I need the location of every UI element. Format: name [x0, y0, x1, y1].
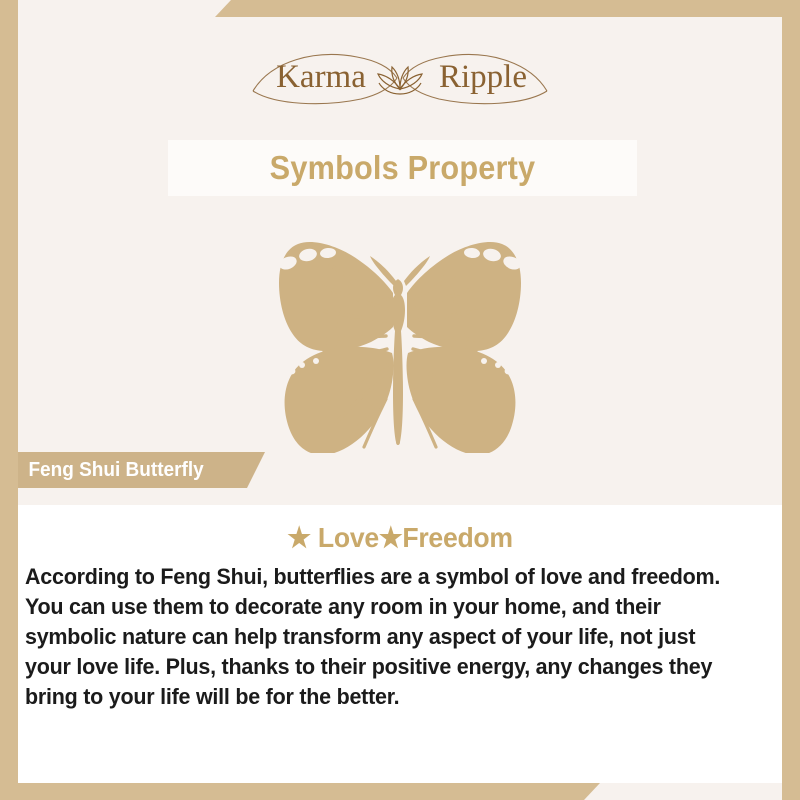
brand-word-right: Ripple	[439, 59, 527, 95]
lotus-icon	[378, 67, 422, 94]
karma-ripple-logo-icon: Karma Ripple	[245, 47, 555, 109]
page-title: Symbols Property	[184, 140, 620, 196]
title-band: Symbols Property	[168, 140, 637, 196]
page-root: Karma Ripple Symbols Property	[0, 0, 800, 800]
banner-label: Feng Shui Butterfly	[18, 459, 204, 482]
hero-image	[18, 227, 782, 467]
decorative-border-left	[0, 0, 18, 800]
content-canvas: Karma Ripple Symbols Property	[18, 17, 782, 783]
tagline: ★ Love★Freedom	[37, 505, 763, 554]
decorative-border-top	[215, 0, 800, 17]
feng-shui-butterfly-banner: Feng Shui Butterfly	[18, 452, 265, 488]
brand-word-left: Karma	[276, 59, 366, 95]
decorative-border-right	[782, 0, 800, 800]
decorative-border-bottom	[0, 783, 600, 800]
brand-logo: Karma Ripple	[18, 35, 782, 121]
description-paragraph: According to Feng Shui, butterflies are …	[25, 562, 740, 712]
description-panel: ★ Love★Freedom According to Feng Shui, b…	[18, 505, 782, 783]
butterfly-icon	[230, 241, 570, 453]
